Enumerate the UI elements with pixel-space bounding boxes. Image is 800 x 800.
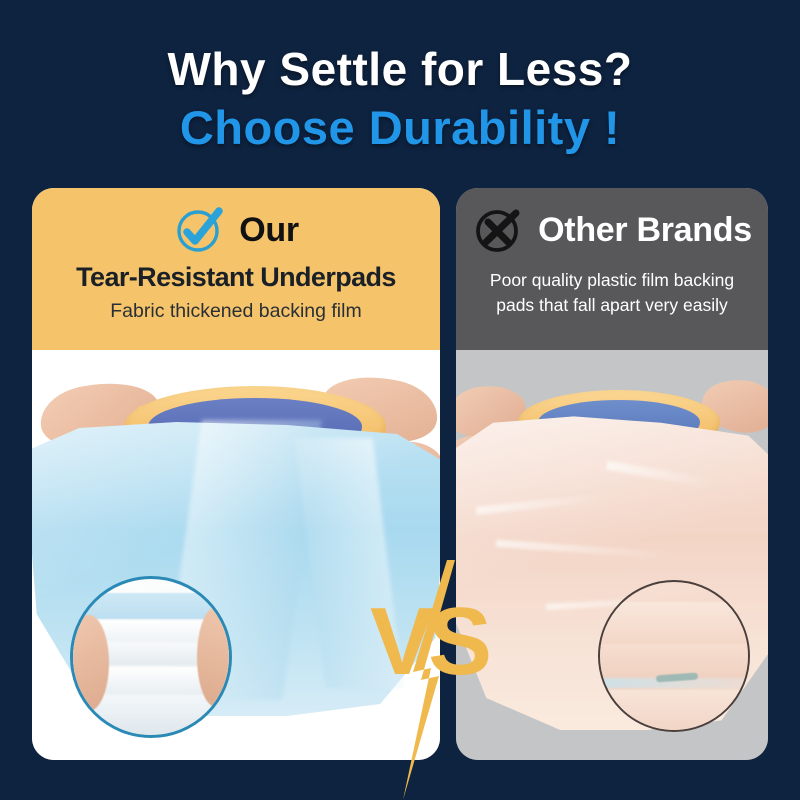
comparison-advertisement: Why Settle for Less? Choose Durability !… (0, 0, 800, 800)
headline-block: Why Settle for Less? Choose Durability ! (0, 40, 800, 158)
other-brands-description-line-2: pads that fall apart very easily (466, 293, 758, 318)
other-brands-photo (456, 350, 768, 760)
headline-line-1: Why Settle for Less? (0, 40, 800, 98)
our-product-panel: Our Tear-Resistant Underpads Fabric thic… (32, 188, 440, 760)
other-brands-description-line-1: Poor quality plastic film backing (466, 268, 758, 293)
inset-film-3 (600, 690, 748, 732)
x-circle-icon (472, 203, 526, 257)
other-brands-title-text: Other Brands (538, 211, 752, 250)
our-title-row: Our (42, 202, 430, 258)
our-product-closeup-inset (70, 576, 232, 738)
our-title-text: Our (239, 211, 299, 250)
other-brands-panel: Other Brands Poor quality plastic film b… (456, 188, 768, 760)
our-product-header: Our Tear-Resistant Underpads Fabric thic… (32, 188, 440, 350)
headline-line-2: Choose Durability ! (0, 98, 800, 158)
other-brands-closeup-inset (598, 580, 750, 732)
inset-hand-left (70, 615, 109, 711)
our-product-name: Tear-Resistant Underpads (42, 260, 430, 294)
check-circle-icon (173, 203, 227, 257)
inset-film-1 (600, 602, 748, 646)
our-product-subtitle: Fabric thickened backing film (42, 298, 430, 324)
our-product-photo (32, 350, 440, 760)
other-brands-title-row: Other Brands (466, 202, 758, 258)
inset-hand-right (197, 607, 232, 707)
other-brands-header: Other Brands Poor quality plastic film b… (456, 188, 768, 350)
